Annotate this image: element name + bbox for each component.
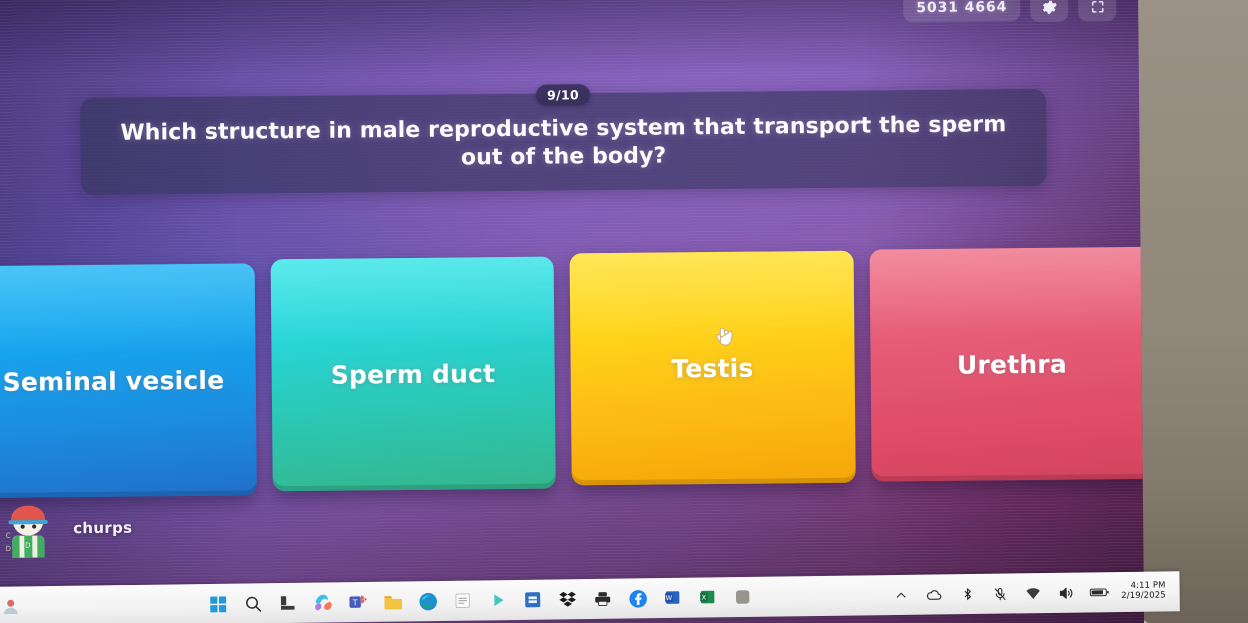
dropbox-icon[interactable] [555, 586, 581, 612]
answer-label: Urethra [957, 349, 1067, 379]
answer-tile-seminal-vesicle[interactable]: Seminal vesicle [0, 263, 256, 498]
task-view-icon[interactable] [275, 590, 301, 616]
tile-sheen [869, 247, 1144, 338]
volume-icon[interactable] [1053, 580, 1079, 606]
answer-tiles: Seminal vesicle Sperm duct Testis Urethr… [0, 247, 1144, 504]
fullscreen-button[interactable] [1078, 0, 1116, 22]
clock-date: 2/19/2025 [1121, 591, 1166, 601]
teams-icon[interactable]: T 4 [345, 589, 371, 615]
taskbar-tray: 4:11 PM 2/19/2025 [888, 578, 1166, 608]
search-icon[interactable] [240, 590, 266, 616]
excel-icon[interactable]: X [695, 584, 721, 610]
answer-label: Seminal vesicle [3, 365, 225, 396]
printer-icon[interactable] [590, 586, 616, 612]
question-text: Which structure in male reproductive sys… [106, 111, 1020, 175]
copilot-icon[interactable] [310, 589, 336, 615]
game-pin: 5031 4664 [903, 0, 1020, 22]
media-player-icon[interactable] [485, 587, 511, 613]
taskbar-clock[interactable]: 4:11 PM 2/19/2025 [1121, 582, 1166, 602]
onedrive-icon[interactable] [921, 581, 947, 607]
player-avatar-icon: D C D [0, 497, 59, 560]
file-explorer-icon[interactable] [380, 588, 406, 614]
notes-icon[interactable] [450, 588, 476, 614]
question-counter: 9/10 [536, 84, 590, 106]
svg-text:D: D [25, 542, 30, 550]
player-strip: D C D churps [0, 497, 133, 560]
fullscreen-icon [1090, 0, 1105, 14]
svg-text:X: X [702, 594, 707, 602]
user-account-icon[interactable] [0, 593, 24, 619]
system-tray [888, 579, 1112, 608]
answer-label: Testis [671, 353, 753, 383]
taskbar-icons: T 4 [205, 584, 756, 617]
question-area: 9/10 Which structure in male reproductiv… [0, 79, 1140, 196]
gear-icon [1041, 0, 1058, 15]
wifi-icon[interactable] [1020, 580, 1046, 606]
tile-sheen [0, 263, 255, 354]
answer-tile-testis[interactable]: Testis [570, 251, 856, 486]
microphone-muted-icon[interactable] [987, 580, 1013, 606]
answer-label: Sperm duct [331, 359, 496, 390]
store-icon[interactable] [520, 587, 546, 613]
word-icon[interactable]: W [660, 585, 686, 611]
quiz-screen: 5031 4664 [0, 0, 1144, 623]
unknown-app-icon[interactable] [730, 584, 756, 610]
svg-text:C: C [6, 532, 11, 540]
bluetooth-icon[interactable] [954, 581, 980, 607]
settings-button[interactable] [1030, 0, 1068, 22]
tile-sheen [570, 251, 854, 342]
player-name: churps [73, 519, 132, 538]
show-hidden-icons-chevron[interactable] [888, 582, 914, 608]
battery-icon[interactable] [1086, 579, 1112, 605]
monitor-photo: 5031 4664 [0, 0, 1248, 623]
facebook-icon[interactable] [625, 585, 651, 611]
svg-text:T: T [351, 598, 357, 607]
top-bar: 5031 4664 [903, 0, 1116, 23]
tile-sheen [270, 257, 554, 348]
answer-tile-urethra[interactable]: Urethra [869, 247, 1144, 482]
svg-text:W: W [666, 594, 673, 602]
answer-tile-sperm-duct[interactable]: Sperm duct [270, 257, 556, 492]
windows-start-icon[interactable] [205, 591, 231, 617]
edge-icon[interactable] [415, 588, 441, 614]
svg-text:D: D [6, 545, 11, 553]
taskbar-user-area [0, 593, 24, 619]
